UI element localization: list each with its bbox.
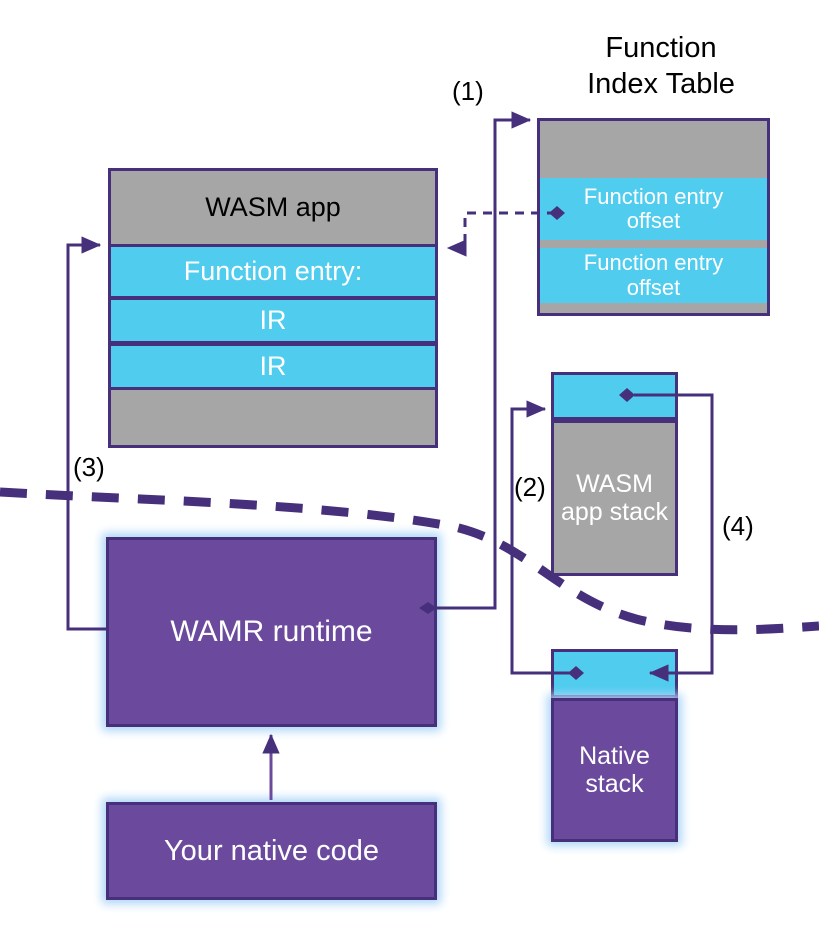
wasm-app-row-ir-1[interactable]: IR: [108, 297, 438, 344]
wasm-app-header-text: WASM app: [205, 193, 341, 223]
function-index-table-divider-2: [540, 303, 767, 313]
native-stack-box: Native stack: [551, 698, 678, 842]
step-label-1: (1): [452, 76, 484, 107]
native-stack-top-band[interactable]: [551, 649, 678, 698]
wamr-runtime-label: WAMR runtime: [170, 615, 372, 649]
connector-step-3: [68, 245, 106, 629]
wasm-app-header-label: WASM app: [111, 171, 435, 244]
step-label-4: (4): [722, 511, 754, 542]
wasm-app-row-ir-2[interactable]: IR: [108, 343, 438, 390]
function-index-table-entry-2[interactable]: Function entry offset: [540, 248, 767, 303]
wasm-app-row-label: IR: [260, 352, 287, 382]
wamr-runtime-box: WAMR runtime: [106, 537, 437, 727]
function-index-table-entry-1[interactable]: Function entry offset: [540, 178, 767, 240]
native-stack-label: Native stack: [579, 742, 650, 798]
wasm-app-stack-top-band[interactable]: [551, 372, 678, 420]
diagram-canvas: Function Index Table WASM app Function e…: [0, 0, 819, 925]
function-index-table-entry-label: Function entry offset: [584, 251, 723, 299]
step-label-3: (3): [73, 452, 105, 483]
function-index-table-entry-label: Function entry offset: [584, 185, 723, 233]
your-native-code-label: Your native code: [164, 835, 379, 867]
your-native-code-box: Your native code: [106, 802, 437, 900]
wasm-app-stack-label: WASM app stack: [561, 470, 668, 526]
function-index-table-divider-1: [540, 240, 767, 248]
step-label-2: (2): [514, 472, 546, 503]
wasm-app-stack-box: WASM app stack: [551, 420, 678, 576]
wasm-app-row-label: Function entry:: [184, 257, 363, 287]
wasm-app-row-label: IR: [260, 306, 287, 336]
function-index-table-title: Function Index Table: [545, 30, 777, 103]
wasm-app-row-function-entry[interactable]: Function entry:: [108, 244, 438, 299]
